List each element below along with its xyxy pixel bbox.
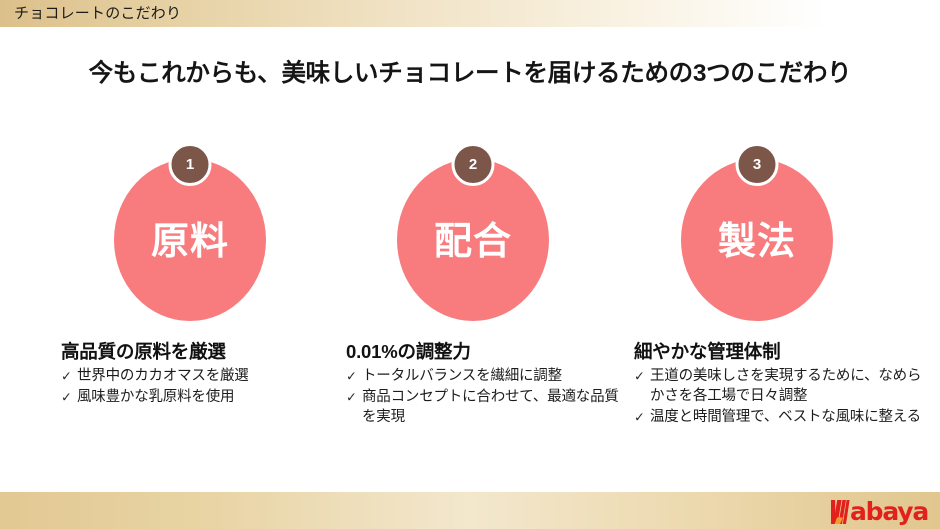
list-item: ✓ 世界中のカカオマスを厳選: [61, 366, 331, 386]
pillar-bubble-label-3: 製法: [718, 220, 796, 264]
check-icon: ✓: [346, 388, 362, 408]
list-item: ✓ 商品コンセプトに合わせて、最適な品質を実現: [346, 387, 621, 427]
pillar-badge-1: 1: [169, 143, 212, 186]
pillar-circles-row: 1 原料 2 配合 3 製法: [0, 143, 940, 323]
list-item-label: 風味豊かな乳原料を使用: [77, 387, 331, 407]
kabaya-k-icon: [831, 499, 852, 524]
pillar-bullets-1: ✓ 世界中のカカオマスを厳選 ✓ 風味豊かな乳原料を使用: [61, 366, 331, 407]
pillar-heading-2: 0.01%の調整力: [346, 340, 621, 364]
list-item: ✓ トータルバランスを繊細に調整: [346, 366, 621, 386]
pillar-bubble-label-2: 配合: [434, 220, 512, 264]
header-bar: チョコレートのこだわり: [0, 0, 940, 27]
list-item-label: トータルバランスを繊細に調整: [362, 366, 621, 386]
list-item-label: 王道の美味しさを実現するために、なめらかさを各工場で日々調整: [650, 366, 924, 406]
pillar-bullets-3: ✓ 王道の美味しさを実現するために、なめらかさを各工場で日々調整 ✓ 温度と時間…: [634, 366, 924, 427]
pillar-circle-3: 3 製法: [681, 143, 833, 321]
list-item: ✓ 温度と時間管理で、ベストな風味に整える: [634, 407, 924, 427]
header-title: チョコレートのこだわり: [14, 4, 181, 23]
check-icon: ✓: [634, 367, 650, 387]
pillar-badge-2: 2: [452, 143, 495, 186]
pillar-text-columns: 高品質の原料を厳選 ✓ 世界中のカカオマスを厳選 ✓ 風味豊かな乳原料を使用 0…: [0, 340, 940, 470]
check-icon: ✓: [346, 367, 362, 387]
list-item-label: 商品コンセプトに合わせて、最適な品質を実現: [362, 387, 621, 427]
list-item: ✓ 王道の美味しさを実現するために、なめらかさを各工場で日々調整: [634, 366, 924, 406]
page-title: 今もこれからも、美味しいチョコレートを届けるための3つのこだわり: [0, 58, 940, 90]
check-icon: ✓: [634, 408, 650, 428]
kabaya-wordmark: abaya: [850, 499, 928, 524]
pillar-column-2: 0.01%の調整力 ✓ トータルバランスを繊細に調整 ✓ 商品コンセプトに合わせ…: [346, 340, 621, 428]
check-icon: ✓: [61, 388, 77, 408]
check-icon: ✓: [61, 367, 77, 387]
pillar-circle-1: 1 原料: [114, 143, 266, 321]
pillar-circle-2: 2 配合: [397, 143, 549, 321]
footer-bar: abaya: [0, 492, 940, 529]
pillar-badge-3: 3: [736, 143, 779, 186]
list-item-label: 温度と時間管理で、ベストな風味に整える: [650, 407, 924, 427]
list-item-label: 世界中のカカオマスを厳選: [77, 366, 331, 386]
pillar-heading-3: 細やかな管理体制: [634, 340, 924, 364]
kabaya-logo: abaya: [831, 498, 930, 524]
list-item: ✓ 風味豊かな乳原料を使用: [61, 387, 331, 407]
pillar-bubble-label-1: 原料: [151, 220, 229, 264]
pillar-column-3: 細やかな管理体制 ✓ 王道の美味しさを実現するために、なめらかさを各工場で日々調…: [634, 340, 924, 428]
pillar-bullets-2: ✓ トータルバランスを繊細に調整 ✓ 商品コンセプトに合わせて、最適な品質を実現: [346, 366, 621, 427]
pillar-column-1: 高品質の原料を厳選 ✓ 世界中のカカオマスを厳選 ✓ 風味豊かな乳原料を使用: [61, 340, 331, 408]
pillar-heading-1: 高品質の原料を厳選: [61, 340, 331, 364]
slide-root: チョコレートのこだわり 今もこれからも、美味しいチョコレートを届けるための3つの…: [0, 0, 940, 529]
